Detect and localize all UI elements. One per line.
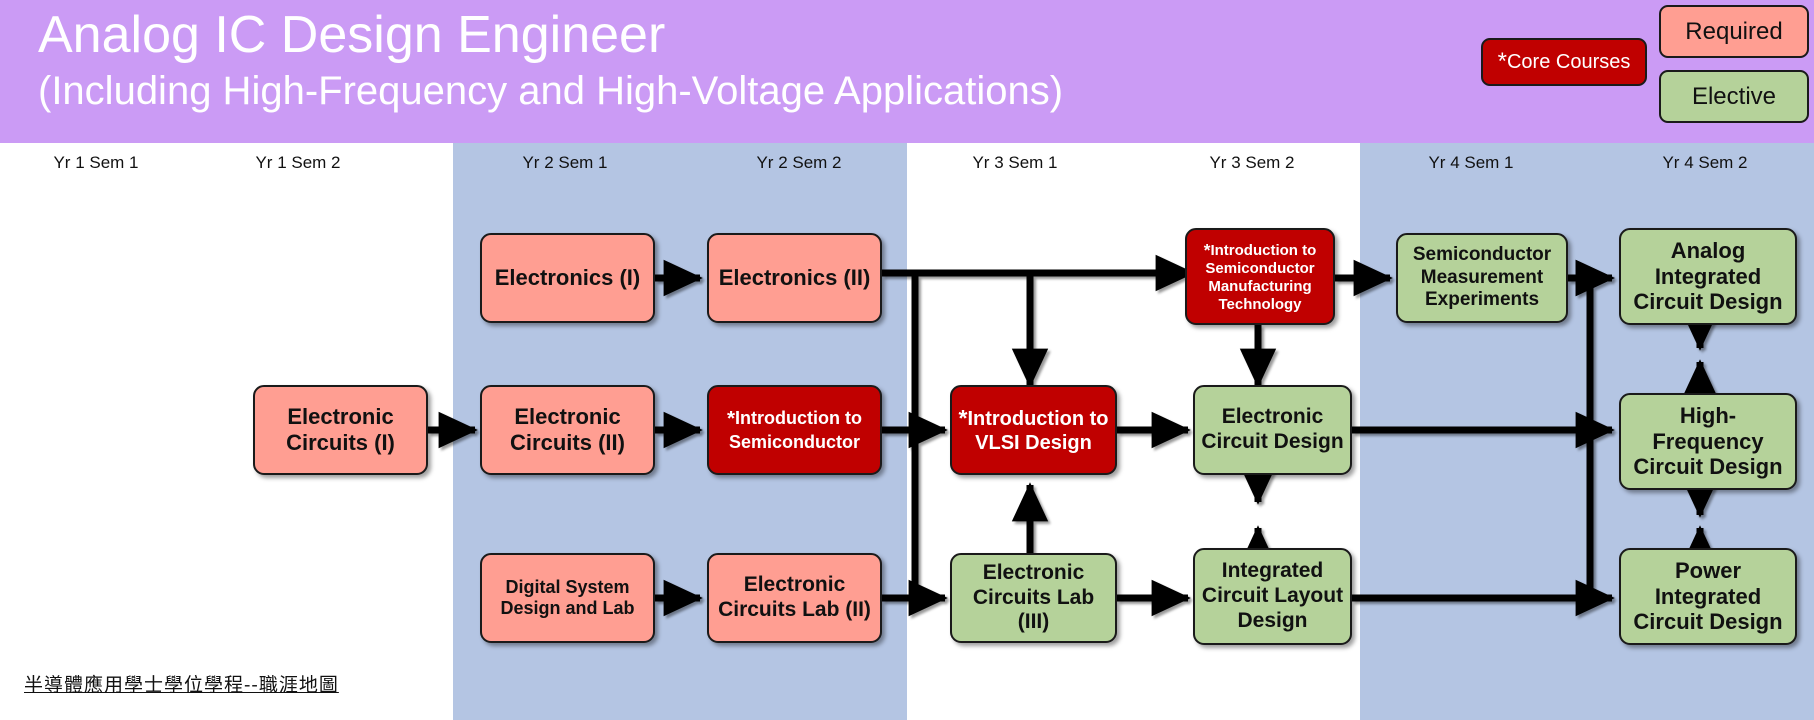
course-label: Electronics (II) [719,265,871,291]
course-label: Electronic Circuits (II) [488,404,647,456]
course-label-wrap: *Introduction to VLSI Design [958,405,1109,456]
sem-header-yr1-sem2: Yr 1 Sem 2 [218,152,378,174]
footer-caption: 半導體應用學士學位學程--職涯地圖 [24,670,339,697]
legend-elective-label: Elective [1692,83,1776,111]
course-node-ec-lab-3[interactable]: Electronic Circuits Lab (III) [950,553,1117,643]
course-node-ec-lab-2[interactable]: Electronic Circuits Lab (II) [707,553,882,643]
course-node-digital-system[interactable]: Digital System Design and Lab [480,553,655,643]
course-label: Electronic Circuits (I) [261,404,420,456]
course-label: Integrated Circuit Layout Design [1201,559,1344,633]
course-node-electronic-circuits-1[interactable]: Electronic Circuits (I) [253,385,428,475]
course-node-electronics-1[interactable]: Electronics (I) [480,233,655,323]
sem-header-yr4-sem1: Yr 4 Sem 1 [1391,152,1551,174]
sem-header-yr2-sem2: Yr 2 Sem 2 [719,152,879,174]
legend-core-label: Core Courses [1507,51,1630,74]
course-label: Introduction to Semiconductor Manufactur… [1205,242,1316,313]
header-banner: Analog IC Design Engineer (Including Hig… [0,0,1814,143]
legend-elective: Elective [1659,70,1809,123]
legend-required-label: Required [1685,18,1782,46]
sem-header-yr1-sem1: Yr 1 Sem 1 [16,152,176,174]
course-node-electronic-circuits-2[interactable]: Electronic Circuits (II) [480,385,655,475]
course-node-ic-layout-design[interactable]: Integrated Circuit Layout Design [1193,548,1352,645]
legend-core-star: * [1498,48,1507,76]
course-node-intro-vlsi[interactable]: *Introduction to VLSI Design [950,385,1117,475]
course-label: Digital System Design and Lab [488,577,647,619]
course-node-high-frequency[interactable]: High-Frequency Circuit Design [1619,393,1797,490]
sem-header-yr2-sem1: Yr 2 Sem 1 [485,152,645,174]
course-label: Power Integrated Circuit Design [1627,558,1789,636]
title-block: Analog IC Design Engineer (Including Hig… [38,4,1238,116]
page-subtitle: (Including High-Frequency and High-Volta… [38,66,1238,116]
course-label: Semiconductor Measurement Experiments [1404,244,1560,311]
page-title: Analog IC Design Engineer [38,4,1238,66]
course-label: Introduction to VLSI Design [967,408,1108,454]
career-map-page: Analog IC Design Engineer (Including Hig… [0,0,1814,720]
legend-required: Required [1659,5,1809,58]
course-label-wrap: *Introduction to Semiconductor [715,407,874,453]
course-label: Electronics (I) [495,265,640,291]
course-label: Introduction to Semiconductor [729,408,862,451]
course-node-intro-semiconductor[interactable]: *Introduction to Semiconductor [707,385,882,475]
course-label-wrap: *Introduction to Semiconductor Manufactu… [1193,240,1327,313]
course-node-electronic-circuit-design[interactable]: Electronic Circuit Design [1193,385,1352,475]
course-label: Electronic Circuits Lab (III) [958,561,1109,635]
course-node-power-ic-design[interactable]: Power Integrated Circuit Design [1619,548,1797,645]
course-node-electronics-2[interactable]: Electronics (II) [707,233,882,323]
core-star: * [727,407,735,430]
sem-header-yr3-sem2: Yr 3 Sem 2 [1172,152,1332,174]
course-node-analog-ic-design[interactable]: Analog Integrated Circuit Design [1619,228,1797,325]
course-label: Analog Integrated Circuit Design [1627,238,1789,316]
sem-header-yr3-sem1: Yr 3 Sem 1 [935,152,1095,174]
sem-header-yr4-sem2: Yr 4 Sem 2 [1625,152,1785,174]
legend-core-courses: *Core Courses [1481,38,1647,86]
course-label: Electronic Circuits Lab (II) [715,573,874,623]
course-label: High-Frequency Circuit Design [1627,403,1789,481]
course-node-semiconductor-measurement[interactable]: Semiconductor Measurement Experiments [1396,233,1568,323]
course-label: Electronic Circuit Design [1201,405,1344,455]
course-node-intro-semi-mfg[interactable]: *Introduction to Semiconductor Manufactu… [1185,228,1335,325]
